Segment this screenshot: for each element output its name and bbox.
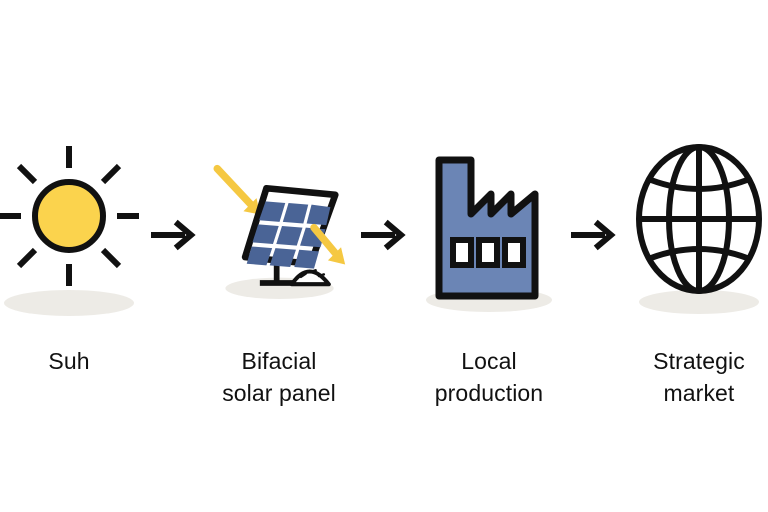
flow-row: Suh: [0, 0, 768, 512]
stage-strategic-market[interactable]: Strategic market: [623, 0, 768, 409]
factory-windows: [453, 240, 523, 265]
stage-label-local-production: Local production: [435, 346, 543, 409]
solar-panel-art: [203, 140, 355, 330]
stage-label-bifacial-solar-panel: Bifacial solar panel: [222, 346, 336, 409]
stage-sun[interactable]: Suh: [0, 0, 145, 378]
factory-art: [413, 140, 565, 330]
stage-label-sun: Suh: [48, 346, 89, 378]
globe-art: [623, 140, 768, 330]
process-flow-diagram: Suh: [0, 0, 768, 512]
yellow-incoming-light-arrow: [217, 169, 260, 215]
stage-local-production[interactable]: Local production: [413, 0, 565, 409]
sun-icon: [0, 140, 145, 330]
solar-panel-body: [245, 188, 335, 268]
factory-icon: [413, 140, 565, 330]
ground-mound: [292, 270, 329, 284]
globe-icon: [623, 140, 768, 330]
arrow-right-icon: [355, 215, 413, 255]
arrow-right-icon: [145, 215, 203, 255]
arrow-right-icon: [565, 215, 623, 255]
sun-art: [0, 140, 145, 330]
arrow-panel-to-factory: [355, 140, 413, 330]
sun-shadow: [4, 290, 134, 316]
arrow-factory-to-globe: [565, 140, 623, 330]
globe-wireframe: [639, 147, 759, 291]
arrow-sun-to-panel: [145, 140, 203, 330]
factory-body: [439, 160, 535, 296]
sun-disc: [35, 182, 103, 250]
solar-panel-icon: [209, 140, 355, 330]
stage-bifacial-solar-panel[interactable]: Bifacial solar panel: [203, 0, 355, 409]
stage-label-strategic-market: Strategic market: [653, 346, 745, 409]
